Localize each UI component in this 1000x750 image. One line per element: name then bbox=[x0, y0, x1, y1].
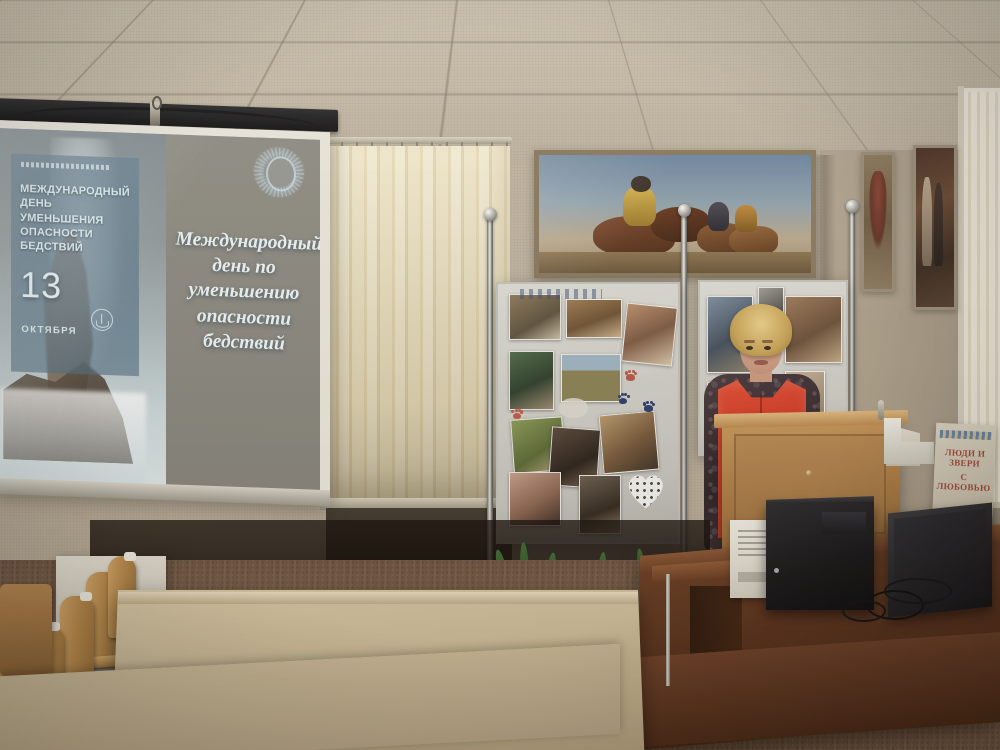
board-pole-knob-middle bbox=[678, 204, 691, 217]
presenter-eye-right bbox=[764, 346, 771, 350]
slide-day-number: 13 bbox=[20, 267, 62, 305]
lectern-screw bbox=[806, 470, 812, 476]
framed-art-ornament bbox=[861, 152, 895, 292]
portrait-figure-right bbox=[934, 183, 943, 266]
board-photo bbox=[509, 351, 554, 410]
tower-power-led bbox=[774, 568, 779, 573]
framed-art-portrait-canvas bbox=[916, 148, 954, 307]
presenter-brow-right bbox=[762, 340, 773, 343]
photo-board-left[interactable] bbox=[496, 282, 680, 544]
dog-cutout bbox=[559, 398, 588, 419]
painting-glare bbox=[539, 155, 811, 273]
slide-month-label: ОКТЯБРЯ bbox=[21, 324, 77, 337]
board-photo bbox=[561, 354, 621, 402]
table-leg bbox=[666, 574, 670, 686]
ornament-motif bbox=[869, 171, 887, 249]
projection-screen: МЕЖДУНАРОДНЫЙ ДЕНЬ УМЕНЬШЕНИЯ ОПАСНОСТИ … bbox=[0, 120, 330, 502]
room-photo: МЕЖДУНАРОДНЫЙ ДЕНЬ УМЕНЬШЕНИЯ ОПАСНОСТИ … bbox=[0, 0, 1000, 750]
presenter-brow-left bbox=[744, 340, 755, 343]
poster-line-2: С ЛЮБОВЬЮ bbox=[936, 471, 991, 493]
board-photo bbox=[621, 302, 677, 366]
board-photo bbox=[598, 411, 659, 474]
wooden-stool[interactable] bbox=[0, 584, 52, 676]
poster-ornament-top bbox=[940, 430, 992, 440]
paw-print-sticker bbox=[617, 392, 630, 405]
un-emblem-icon bbox=[252, 144, 306, 200]
screen-mount-ring bbox=[152, 96, 162, 110]
paw-print-sticker bbox=[642, 400, 655, 413]
blinds-shading bbox=[324, 146, 510, 501]
emblem-oval bbox=[266, 156, 296, 192]
presenter-mouth bbox=[754, 360, 768, 365]
projected-slide: МЕЖДУНАРОДНЫЙ ДЕНЬ УМЕНЬШЕНИЯ ОПАСНОСТИ … bbox=[0, 128, 320, 492]
slide-main-title: Международный день по уменьшению опаснос… bbox=[176, 226, 313, 358]
paw-print-sticker bbox=[624, 369, 637, 382]
conference-table-edge bbox=[118, 592, 638, 604]
portrait-figure-left bbox=[922, 177, 932, 266]
board-heading bbox=[520, 289, 603, 299]
tower-drive-bay[interactable] bbox=[822, 512, 866, 534]
board-photo bbox=[509, 472, 561, 526]
cable-coil bbox=[842, 600, 886, 622]
horsemen-painting bbox=[534, 150, 816, 278]
presenter-hair bbox=[730, 304, 792, 356]
board-photo bbox=[566, 299, 622, 337]
slide-right-panel: Международный день по уменьшению опаснос… bbox=[166, 134, 320, 492]
flower-sticker bbox=[511, 408, 524, 421]
presenter-eye-left bbox=[746, 346, 753, 350]
poster-line-1: ЛЮДИ И ЗВЕРИ bbox=[937, 447, 992, 469]
board-pole-knob-right bbox=[846, 200, 859, 213]
slide-sea-foam bbox=[0, 389, 146, 486]
board-photo bbox=[509, 294, 561, 340]
paw-heart-sticker bbox=[626, 472, 668, 510]
cable-coil bbox=[884, 578, 952, 604]
framed-art-ornament-canvas bbox=[864, 155, 892, 289]
paw-heart-dots bbox=[627, 473, 667, 509]
board-pole-knob-left bbox=[484, 208, 497, 221]
slide-info-card: МЕЖДУНАРОДНЫЙ ДЕНЬ УМЕНЬШЕНИЯ ОПАСНОСТИ … bbox=[11, 153, 139, 376]
framed-art-portrait bbox=[913, 145, 957, 310]
un-anchor-emblem-icon bbox=[91, 309, 113, 332]
slide-caption-bar bbox=[21, 162, 111, 170]
slide-left-heading: МЕЖДУНАРОДНЫЙ ДЕНЬ УМЕНЬШЕНИЯ ОПАСНОСТИ … bbox=[20, 182, 133, 258]
wall-hook bbox=[878, 400, 884, 420]
